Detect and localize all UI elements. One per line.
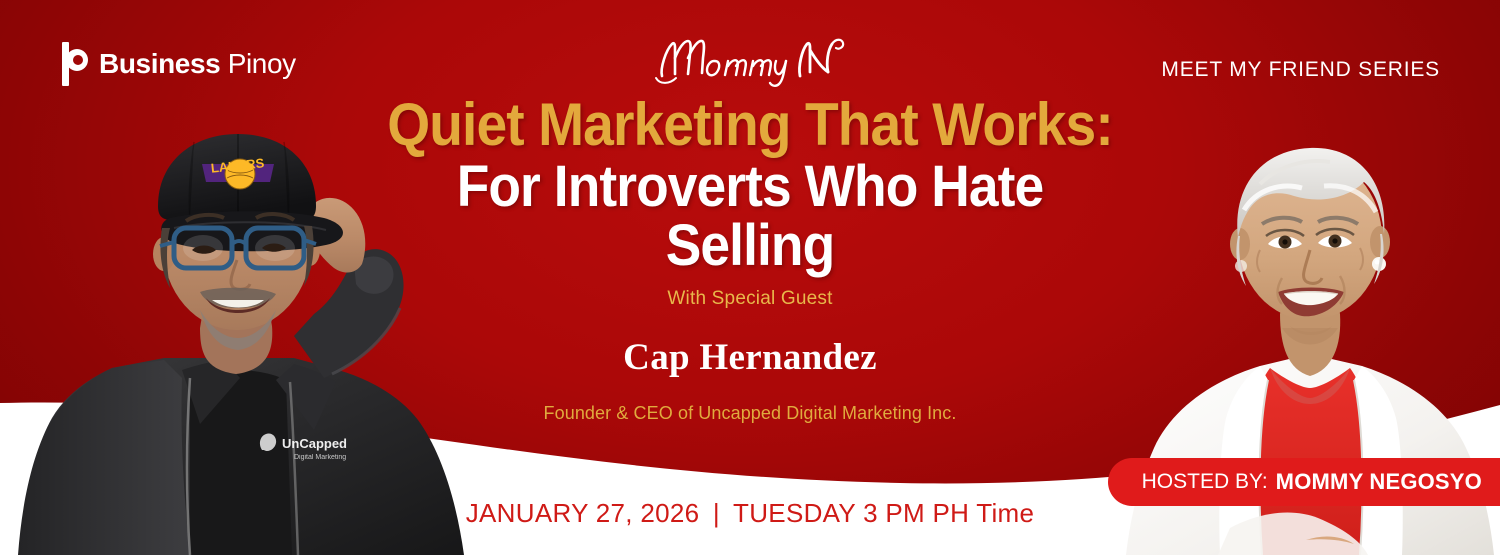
webinar-banner: Business Pinoy [0, 0, 1500, 555]
lakers-cap-logo-icon: LAKERS [194, 147, 282, 201]
svg-text:Digital Marketing: Digital Marketing [294, 454, 346, 461]
series-label: MEET MY FRIEND SERIES [1161, 58, 1440, 82]
event-date: JANUARY 27, 2026 [466, 498, 700, 528]
hosted-by-badge: HOSTED BY: MOMMY NEGOSYO [1108, 458, 1500, 506]
mommy-n-script-icon [650, 28, 850, 90]
hosted-by-label: HOSTED BY: [1142, 470, 1268, 494]
speaker-portrait-left: LAKERS [0, 78, 514, 555]
event-time: TUESDAY 3 PM PH Time [733, 498, 1034, 528]
man-tipping-cap-illustration: LAKERS [0, 78, 514, 555]
svg-text:UnCapped: UnCapped [282, 436, 347, 451]
schedule-separator: | [707, 498, 726, 528]
host-name: MOMMY NEGOSYO [1276, 469, 1482, 495]
